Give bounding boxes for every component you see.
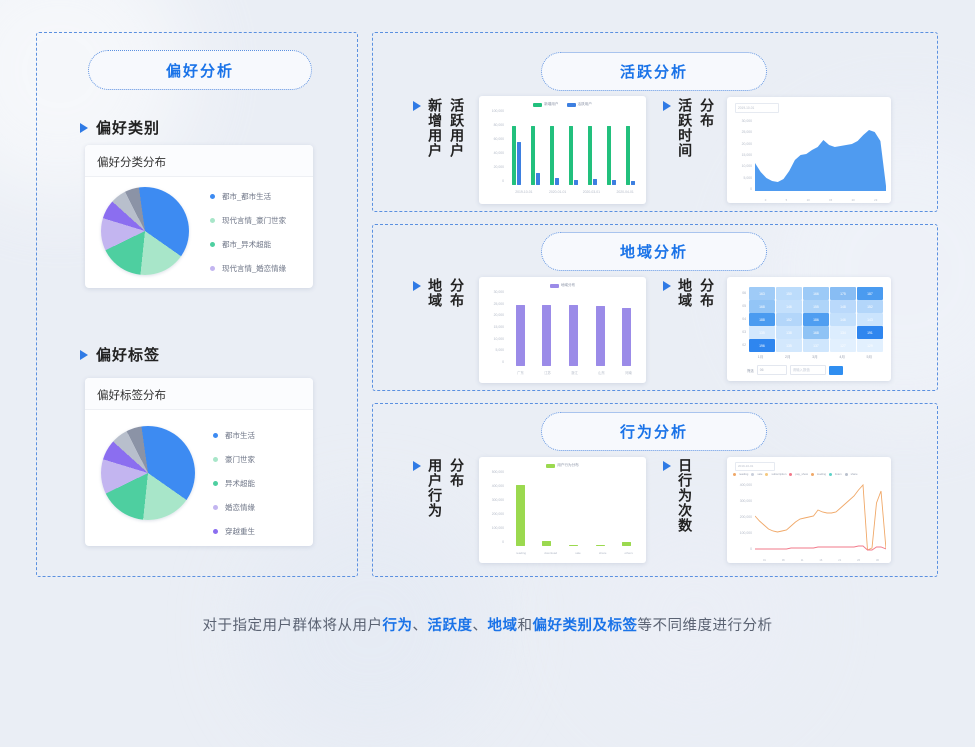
y-tick: 15,000 bbox=[482, 325, 504, 329]
legend-item: 古代言情_穿越重生 bbox=[210, 287, 286, 288]
line-others bbox=[755, 546, 886, 550]
legend-swatch bbox=[546, 464, 555, 468]
legend-item: 婚恋情缘 bbox=[213, 502, 255, 513]
y-tick: 100,000 bbox=[730, 531, 752, 535]
x-axis: reading download sale share others bbox=[507, 551, 642, 555]
x-tick: 2020-03-01 bbox=[583, 190, 600, 194]
legend-dot bbox=[210, 242, 215, 247]
chip-active-label: 活跃分析 bbox=[620, 61, 688, 82]
behavior-bar bbox=[622, 542, 631, 546]
y-axis: 30,000 25,000 20,000 15,000 10,000 5,000… bbox=[482, 290, 506, 364]
chart-region-bar: 地域分布 30,000 25,000 20,000 15,000 10,000 … bbox=[479, 277, 646, 383]
y-tick: 20,000 bbox=[482, 165, 504, 169]
y-tick: 5,000 bbox=[730, 176, 752, 180]
label-active-time: 活跃时间 bbox=[676, 98, 693, 158]
row-label: 02 bbox=[733, 339, 748, 352]
legend-dot bbox=[213, 433, 218, 438]
section-label: 偏好类别 bbox=[96, 117, 160, 138]
chart-behavior-bar: 用户行为分布 500,000 400,000 300,000 200,000 1… bbox=[479, 457, 646, 563]
label-user-behavior: 用户行为 bbox=[426, 458, 443, 518]
y-tick: 200,000 bbox=[482, 512, 504, 516]
heatmap-cell[interactable]: 127 bbox=[830, 339, 856, 352]
heatmap-row: 04188152186146143 bbox=[733, 313, 883, 326]
plot-area: 30,000 25,000 20,000 15,000 10,000 5,000… bbox=[479, 288, 646, 376]
y-tick: 10,000 bbox=[482, 337, 504, 341]
heatmap-cell[interactable]: 163 bbox=[749, 287, 775, 300]
control-input[interactable]: 请输入数值 bbox=[790, 365, 826, 375]
heatmap-cell[interactable]: 155 bbox=[803, 300, 829, 313]
x-tick: share bbox=[599, 551, 607, 555]
x-axis: 01 06 11 16 21 26 30 bbox=[755, 559, 887, 562]
x-tick: others bbox=[625, 551, 633, 555]
label-region: 地域 bbox=[676, 278, 693, 308]
x-tick: 江苏 bbox=[544, 370, 551, 375]
line-series-container bbox=[755, 483, 886, 551]
bar-group bbox=[550, 111, 559, 185]
card-title: 偏好分类分布 bbox=[85, 145, 313, 177]
caption-text: 、 bbox=[473, 618, 488, 634]
region-bar bbox=[622, 308, 631, 366]
legend-dot bbox=[213, 457, 218, 462]
heatmap-cell[interactable]: 138 bbox=[776, 326, 802, 339]
heatmap-cell[interactable]: 166 bbox=[803, 287, 829, 300]
y-tick: 5,000 bbox=[482, 348, 504, 352]
row-label: 04 bbox=[733, 313, 748, 326]
control-input-placeholder: 请输入数值 bbox=[793, 368, 810, 372]
caption-keyword: 行为 bbox=[383, 618, 413, 634]
y-tick: 20,000 bbox=[730, 142, 752, 146]
heatmap-cell[interactable]: 191 bbox=[857, 326, 883, 339]
label-active-users: 活跃用户 bbox=[448, 98, 465, 158]
footer-caption: 对于指定用户群体将从用户行为、活跃度、地域和偏好类别及标签等不同维度进行分析 bbox=[0, 614, 975, 635]
legend-swatch bbox=[567, 103, 576, 107]
chart-region-heatmap: 06163150166175187 05168146155148152 0418… bbox=[727, 277, 891, 381]
label-distribution: 分布 bbox=[698, 98, 715, 128]
legend-swatch bbox=[550, 284, 559, 288]
heatmap-cell[interactable]: 129 bbox=[857, 339, 883, 352]
bar-active bbox=[593, 179, 597, 185]
pie-chart-preference-category bbox=[101, 187, 189, 275]
heatmap-cell[interactable]: 152 bbox=[857, 300, 883, 313]
caption-text: 等不同维度进行分析 bbox=[638, 618, 773, 634]
area-series bbox=[755, 119, 886, 191]
label-distribution: 分布 bbox=[448, 458, 465, 488]
pie-chart-preference-tag bbox=[101, 426, 195, 520]
x-tick: 0 bbox=[765, 198, 767, 202]
chip-behavior-analysis: 行为分析 bbox=[541, 412, 767, 451]
caption-keyword: 偏好类别及标签 bbox=[533, 618, 638, 634]
legend-label: 都市_都市生活 bbox=[222, 191, 271, 202]
section-head-preference-category: 偏好类别 bbox=[80, 117, 160, 138]
col-label: 2月 bbox=[785, 355, 791, 360]
bar-group bbox=[531, 111, 540, 185]
bar-new bbox=[512, 126, 516, 185]
bar-new bbox=[531, 126, 535, 185]
x-tick: 浙江 bbox=[571, 370, 578, 375]
y-tick: 30,000 bbox=[730, 119, 752, 123]
legend-label: 穿越重生 bbox=[225, 526, 255, 537]
control-confirm-button[interactable] bbox=[829, 366, 843, 375]
chart-legend: 新增用户 活跃用户 bbox=[479, 96, 646, 107]
triangle-icon bbox=[80, 350, 88, 360]
y-axis: 500,000 400,000 300,000 200,000 100,000 … bbox=[482, 470, 506, 544]
chart-active-users-bar: 新增用户 活跃用户 100,000 80,000 60,000 40,000 2… bbox=[479, 96, 646, 204]
legend-item: 豪门世家 bbox=[213, 454, 255, 465]
y-tick: 10,000 bbox=[730, 164, 752, 168]
y-tick: 20,000 bbox=[482, 313, 504, 317]
y-tick: 100,000 bbox=[482, 526, 504, 530]
heatmap-cell[interactable]: 150 bbox=[776, 287, 802, 300]
pie-legend-preference-tag: 都市生活 豪门世家 异术超能 婚恋情缘 穿越重生 bbox=[213, 430, 255, 537]
x-tick: 10 bbox=[807, 198, 810, 202]
line-reading bbox=[755, 485, 886, 550]
bar-new bbox=[569, 126, 573, 185]
bar-new bbox=[550, 126, 554, 185]
pie-legend-preference-category: 都市_都市生活 现代言情_豪门世家 都市_异术超能 现代言情_婚恋情缘 古代言情… bbox=[210, 191, 286, 288]
legend-label: 现代言情_豪门世家 bbox=[222, 215, 286, 226]
behavior-bar bbox=[516, 485, 525, 546]
y-tick: 400,000 bbox=[482, 484, 504, 488]
y-tick: 15,000 bbox=[730, 153, 752, 157]
caption-keyword: 地域 bbox=[488, 618, 518, 634]
x-tick: 2020-04-01 bbox=[616, 190, 633, 194]
card-preference-tag-distribution: 偏好标签分布 都市生活 豪门世家 异术超能 婚恋情缘 穿越重生 bbox=[85, 378, 313, 546]
region-bar bbox=[596, 306, 605, 366]
legend-item: 都市生活 bbox=[213, 430, 255, 441]
label-region: 地域 bbox=[426, 278, 443, 308]
legend-swatch bbox=[533, 103, 542, 107]
y-tick: 25,000 bbox=[730, 130, 752, 134]
heatmap-cell[interactable]: 187 bbox=[857, 287, 883, 300]
chart-behavior-line: 2019-10-01 reading sale subscription pay… bbox=[727, 457, 891, 563]
x-axis: 0 5 10 15 20 23 bbox=[755, 198, 887, 202]
caption-text: 、 bbox=[413, 618, 428, 634]
heatmap-cell[interactable]: 168 bbox=[749, 300, 775, 313]
x-tick: 11 bbox=[801, 559, 804, 562]
legend-label: 古代言情_穿越重生 bbox=[222, 287, 286, 288]
bar-new bbox=[626, 126, 630, 185]
legend-item: 现代言情_豪门世家 bbox=[210, 215, 286, 226]
heatmap-cell[interactable]: 152 bbox=[776, 313, 802, 326]
section-label: 偏好标签 bbox=[96, 344, 160, 365]
legend-dot bbox=[210, 218, 215, 223]
legend-item: 都市_异术超能 bbox=[210, 239, 286, 250]
caption-text: 和 bbox=[518, 618, 533, 634]
control-select-value: 06 bbox=[760, 368, 764, 372]
heatmap-cell[interactable]: 135 bbox=[749, 326, 775, 339]
heatmap-cell[interactable]: 175 bbox=[830, 287, 856, 300]
heatmap-row: 06163150166175187 bbox=[733, 287, 883, 300]
bar-active bbox=[517, 142, 521, 185]
legend-label: 婚恋情缘 bbox=[225, 502, 255, 513]
bar-container bbox=[507, 292, 640, 366]
chart-legend: 用户行为分布 bbox=[479, 457, 646, 468]
caption-keyword: 活跃度 bbox=[428, 618, 473, 634]
y-tick: 100,000 bbox=[482, 109, 504, 113]
bar-active bbox=[555, 178, 559, 185]
region-bar bbox=[542, 305, 551, 366]
col-label: 5月 bbox=[867, 355, 873, 360]
region-bar bbox=[569, 305, 578, 366]
heatmap-row: 02196135137127129 bbox=[733, 339, 883, 352]
plot-area: 30,000 25,000 20,000 15,000 10,000 5,000… bbox=[727, 97, 891, 203]
region-bar bbox=[516, 305, 525, 366]
y-tick: 0 bbox=[482, 179, 504, 183]
x-tick: 21 bbox=[838, 559, 841, 562]
bar-new bbox=[607, 126, 611, 185]
col-label: 3月 bbox=[812, 355, 818, 360]
bar-group bbox=[569, 111, 578, 185]
x-tick: 23 bbox=[874, 198, 877, 202]
heatmap-cell[interactable]: 135 bbox=[776, 339, 802, 352]
legend-label: 豪门世家 bbox=[225, 454, 255, 465]
chip-active-analysis: 活跃分析 bbox=[541, 52, 767, 91]
bar-active bbox=[536, 173, 540, 185]
x-tick: sale bbox=[575, 551, 581, 555]
y-tick: 40,000 bbox=[482, 151, 504, 155]
heatmap-cell[interactable]: 188 bbox=[749, 313, 775, 326]
behavior-bar bbox=[569, 545, 578, 546]
heatmap-cell[interactable]: 148 bbox=[830, 300, 856, 313]
heatmap-controls: 筛选 06 请输入数值 bbox=[733, 360, 883, 375]
y-tick: 400,000 bbox=[730, 483, 752, 487]
heatmap-cell[interactable]: 196 bbox=[749, 339, 775, 352]
triangle-icon bbox=[413, 461, 421, 471]
x-tick: 15 bbox=[829, 198, 832, 202]
chip-preference-analysis: 偏好分析 bbox=[88, 50, 312, 90]
legend-dot bbox=[213, 505, 218, 510]
label-new-users: 新增用户 bbox=[426, 98, 443, 158]
x-tick: 山东 bbox=[598, 370, 605, 375]
chip-behavior-label: 行为分析 bbox=[620, 421, 688, 442]
y-tick: 300,000 bbox=[730, 499, 752, 503]
x-tick: 20 bbox=[852, 198, 855, 202]
label-daily-behavior-count: 日行为次数 bbox=[676, 458, 693, 533]
legend-label: 都市_异术超能 bbox=[222, 239, 271, 250]
y-axis: 100,000 80,000 60,000 40,000 20,000 0 bbox=[482, 109, 506, 183]
y-tick: 0 bbox=[730, 187, 752, 191]
triangle-icon bbox=[663, 461, 671, 471]
bar-group-container bbox=[507, 111, 640, 185]
caption-text: 对于指定用户群体将从用户 bbox=[203, 618, 383, 634]
y-axis: 400,000 300,000 200,000 100,000 0 bbox=[730, 483, 754, 551]
heatmap-cell[interactable]: 134 bbox=[830, 326, 856, 339]
heatmap-cell[interactable]: 143 bbox=[857, 313, 883, 326]
bar-group bbox=[607, 111, 616, 185]
bar-active bbox=[631, 181, 635, 185]
bar-group bbox=[512, 111, 521, 185]
bar-group bbox=[626, 111, 635, 185]
x-tick: 30 bbox=[876, 559, 879, 562]
row-label: 05 bbox=[733, 300, 748, 313]
y-tick: 300,000 bbox=[482, 498, 504, 502]
heatmap-row: 05168146155148152 bbox=[733, 300, 883, 313]
y-tick: 0 bbox=[482, 360, 504, 364]
x-tick: 06 bbox=[782, 559, 785, 562]
x-tick: download bbox=[544, 551, 557, 555]
plot-area: 500,000 400,000 300,000 200,000 100,000 … bbox=[479, 468, 646, 556]
x-tick: 2019-10-01 bbox=[515, 190, 532, 194]
legend-dot bbox=[213, 481, 218, 486]
y-tick: 80,000 bbox=[482, 123, 504, 127]
chart-legend: 地域分布 bbox=[479, 277, 646, 288]
plot-area: 400,000 300,000 200,000 100,000 0 01 06 … bbox=[727, 457, 891, 563]
heatmap-cell[interactable]: 186 bbox=[803, 313, 829, 326]
triangle-icon bbox=[663, 281, 671, 291]
legend-label: 都市生活 bbox=[225, 430, 255, 441]
triangle-icon bbox=[80, 123, 88, 133]
triangle-icon bbox=[663, 101, 671, 111]
bar-active bbox=[574, 180, 578, 185]
triangle-icon bbox=[413, 281, 421, 291]
row-label: 03 bbox=[733, 326, 748, 339]
x-tick: 5 bbox=[786, 198, 788, 202]
bar-container bbox=[507, 472, 640, 546]
x-axis: 广东 江苏 浙江 山东 河南 bbox=[507, 370, 642, 375]
heatmap-grid: 06163150166175187 05168146155148152 0418… bbox=[733, 287, 883, 352]
y-tick: 200,000 bbox=[730, 515, 752, 519]
col-label: 1月 bbox=[758, 355, 764, 360]
x-tick: reading bbox=[516, 551, 526, 555]
label-distribution: 分布 bbox=[698, 278, 715, 308]
control-select[interactable]: 06 bbox=[757, 365, 787, 375]
chip-region-analysis: 地域分析 bbox=[541, 232, 767, 271]
y-tick: 30,000 bbox=[482, 290, 504, 294]
legend-label: 异术超能 bbox=[225, 478, 255, 489]
heatmap-cell[interactable]: 146 bbox=[776, 300, 802, 313]
x-tick: 26 bbox=[857, 559, 860, 562]
y-axis: 30,000 25,000 20,000 15,000 10,000 5,000… bbox=[730, 119, 754, 191]
x-tick: 河南 bbox=[625, 370, 632, 375]
legend-dot bbox=[210, 266, 215, 271]
control-label: 筛选 bbox=[747, 368, 754, 373]
col-label: 4月 bbox=[839, 355, 845, 360]
chip-region-label: 地域分析 bbox=[620, 241, 688, 262]
legend-item: 穿越重生 bbox=[213, 526, 255, 537]
legend-dot bbox=[213, 529, 218, 534]
chip-preference-label: 偏好分析 bbox=[166, 60, 234, 81]
card-preference-category-distribution: 偏好分类分布 都市_都市生活 现代言情_豪门世家 都市_异术超能 现代言情_婚恋… bbox=[85, 145, 313, 288]
y-tick: 60,000 bbox=[482, 137, 504, 141]
triangle-icon bbox=[413, 101, 421, 111]
row-label: 06 bbox=[733, 287, 748, 300]
y-tick: 25,000 bbox=[482, 302, 504, 306]
plot-area: 100,000 80,000 60,000 40,000 20,000 0 20… bbox=[479, 107, 646, 195]
x-axis: 2019-10-01 2020-01-01 2020-03-01 2020-04… bbox=[507, 190, 642, 194]
heatmap-cell[interactable]: 168 bbox=[803, 326, 829, 339]
card-title: 偏好标签分布 bbox=[85, 378, 313, 410]
bar-new bbox=[588, 126, 592, 185]
section-head-preference-tag: 偏好标签 bbox=[80, 344, 160, 365]
chart-active-time-area: 2019-10-01 30,000 25,000 20,000 15,000 1… bbox=[727, 97, 891, 203]
x-tick: 广东 bbox=[517, 370, 524, 375]
legend-item: 现代言情_婚恋情缘 bbox=[210, 263, 286, 274]
behavior-bar bbox=[542, 541, 551, 546]
bar-active bbox=[612, 180, 616, 185]
y-tick: 0 bbox=[482, 540, 504, 544]
heatmap-row: 03135138168134191 bbox=[733, 326, 883, 339]
legend-item: 都市_都市生活 bbox=[210, 191, 286, 202]
legend-item: 异术超能 bbox=[213, 478, 255, 489]
heatmap-cell[interactable]: 146 bbox=[830, 313, 856, 326]
label-distribution: 分布 bbox=[448, 278, 465, 308]
y-tick: 500,000 bbox=[482, 470, 504, 474]
bar-group bbox=[588, 111, 597, 185]
legend-label: 现代言情_婚恋情缘 bbox=[222, 263, 286, 274]
heatmap-cell[interactable]: 137 bbox=[803, 339, 829, 352]
y-tick: 0 bbox=[730, 547, 752, 551]
x-tick: 16 bbox=[819, 559, 822, 562]
legend-dot bbox=[210, 194, 215, 199]
behavior-bar bbox=[596, 545, 605, 546]
x-tick: 01 bbox=[763, 559, 766, 562]
x-tick: 2020-01-01 bbox=[549, 190, 566, 194]
